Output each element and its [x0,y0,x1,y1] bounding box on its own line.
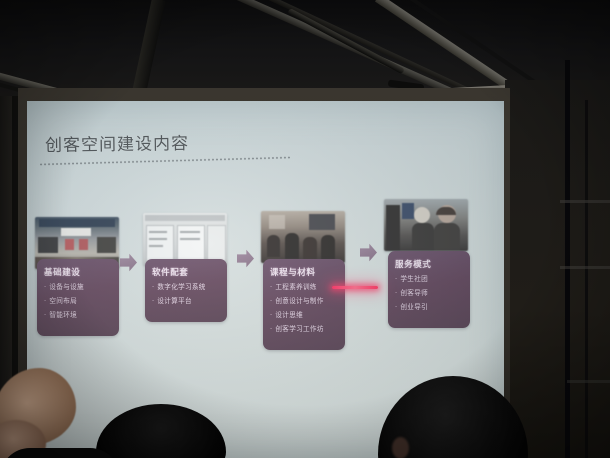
ceiling-pipe [287,8,405,74]
card-2-heading: 软件配套 [152,266,221,278]
list-item: 智能环境 [44,312,113,319]
arrow-right-icon [120,253,137,272]
list-item: 设计思维 [270,312,339,319]
list-item: 工程素养训练 [270,284,339,291]
list-item: 创客学习工作坊 [270,326,339,333]
list-item: 设计算平台 [152,298,221,305]
mentors-people-photo [384,199,468,251]
card-3[interactable]: 课程与材料 工程素养训练 创意设计与制作 设计思维 创客学习工作坊 [263,259,345,350]
card-2-bullets: 数字化学习系统 设计算平台 [152,284,221,305]
wall-bracket [560,200,610,203]
card-4-heading: 服务模式 [395,258,464,270]
card-1-bullets: 设备与设施 空间布局 智能环境 [44,284,113,319]
wall-bracket [560,266,610,269]
right-wall [505,80,610,458]
card-1-heading: 基础建设 [44,266,113,278]
audience-ear [392,437,409,458]
list-item: 空间布局 [44,298,113,305]
card-4[interactable]: 服务模式 学生社团 创客导师 创业导引 [388,251,470,328]
laser-pointer-beam [332,286,378,289]
card-3-bullets: 工程素养训练 创意设计与制作 设计思维 创客学习工作坊 [270,284,339,333]
list-item: 创客导师 [395,290,464,297]
card-3-heading: 课程与材料 [270,266,339,278]
card-1[interactable]: 基础建设 设备与设施 空间布局 智能环境 [37,259,119,336]
page-title: 创客空间建设内容 [45,129,189,156]
list-item: 创意设计与制作 [270,298,339,305]
screenshot-root: 创客空间建设内容 基础建设 设备与设施 空间布局 智能环境 [0,0,610,458]
title-divider [39,156,291,165]
wall-rail [585,100,588,458]
arrow-right-icon [360,243,377,262]
list-item: 数字化学习系统 [152,284,221,291]
list-item: 学生社团 [395,276,464,283]
list-item: 设备与设施 [44,284,113,291]
classroom-students-photo [261,211,345,263]
card-4-bullets: 学生社团 创客导师 创业导引 [395,276,464,311]
list-item: 创业导引 [395,304,464,311]
software-screenshot-photo [143,213,227,265]
wall-bracket [567,380,610,383]
wall-rail [565,60,570,458]
arrow-right-icon [237,249,254,268]
card-2[interactable]: 软件配套 数字化学习系统 设计算平台 [145,259,227,322]
